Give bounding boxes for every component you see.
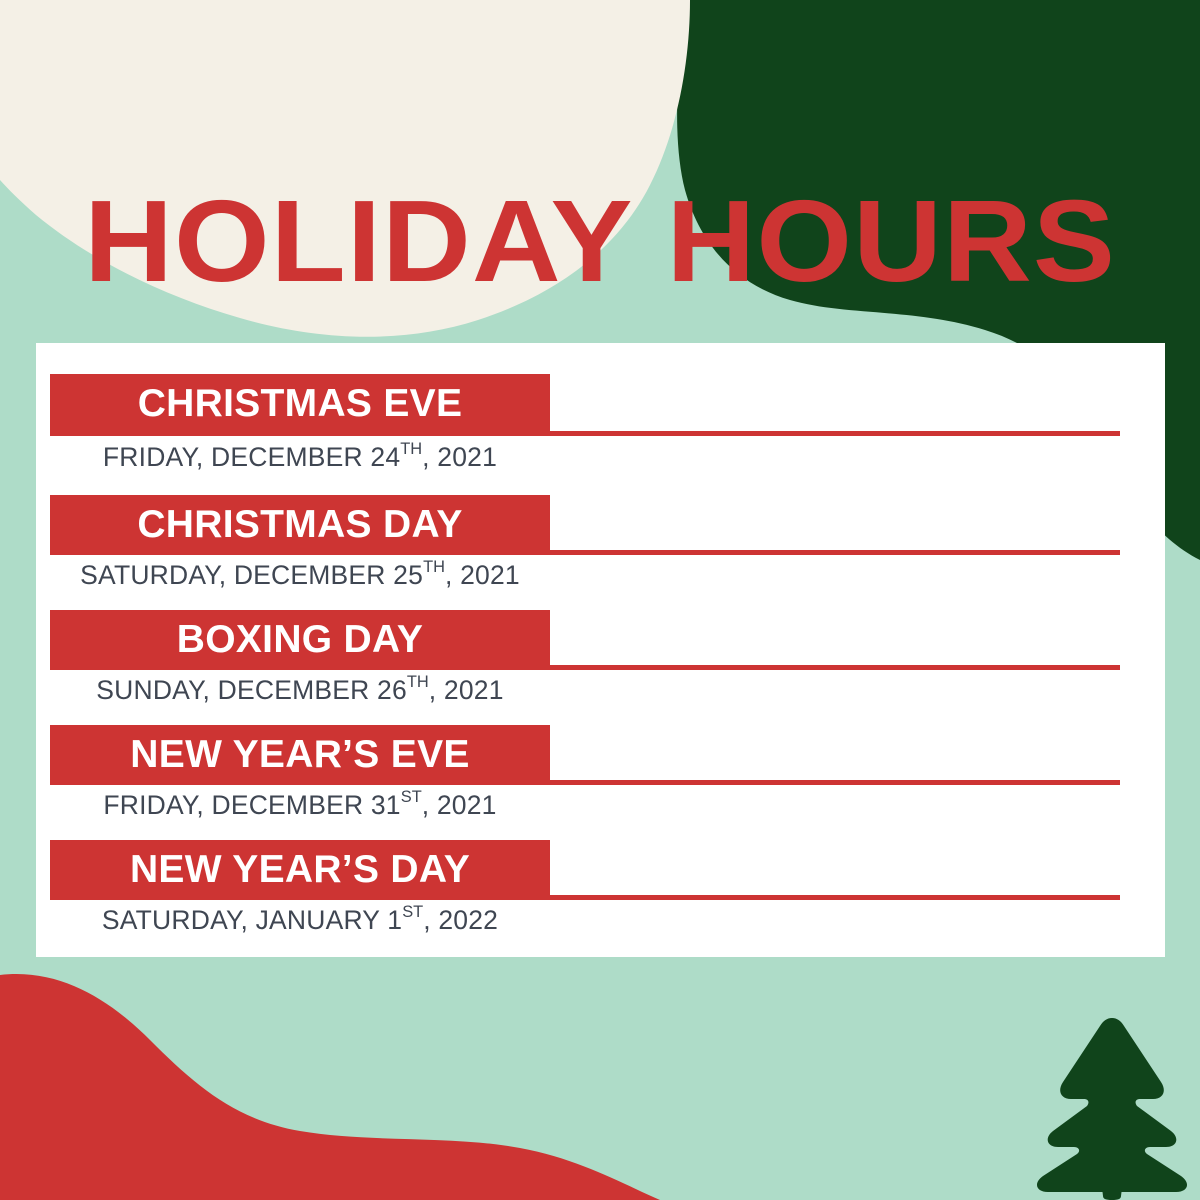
schedule-row: NEW YEAR’S EVE FRIDAY, DECEMBER 31ST, 20…: [36, 688, 1165, 803]
page-title: HOLIDAY HOURS: [0, 183, 1200, 299]
holiday-name-banner: BOXING DAY: [50, 610, 550, 670]
holiday-name: NEW YEAR’S EVE: [130, 735, 469, 774]
date-prefix: SATURDAY, JANUARY 1: [102, 905, 402, 935]
holiday-name-banner: NEW YEAR’S DAY: [50, 840, 550, 900]
holiday-name: CHRISTMAS DAY: [137, 505, 462, 544]
date-ordinal: TH: [400, 440, 422, 458]
schedule-rows: CHRISTMAS EVE FRIDAY, DECEMBER 24TH, 202…: [36, 343, 1165, 918]
date-suffix: , 2022: [423, 905, 498, 935]
schedule-row: NEW YEAR’S DAY SATURDAY, JANUARY 1ST, 20…: [36, 803, 1165, 918]
schedule-row: CHRISTMAS DAY SATURDAY, DECEMBER 25TH, 2…: [36, 458, 1165, 573]
schedule-row: BOXING DAY SUNDAY, DECEMBER 26TH, 2021: [36, 573, 1165, 688]
holiday-name: CHRISTMAS EVE: [138, 384, 463, 423]
holiday-name-banner: CHRISTMAS DAY: [50, 495, 550, 555]
holiday-hours-poster: HOLIDAY HOURS CHRISTMAS EVE FRIDAY, DECE…: [0, 0, 1200, 1200]
date-ordinal: ST: [402, 903, 423, 921]
holiday-name-banner: CHRISTMAS EVE: [50, 374, 550, 434]
holiday-name-banner: NEW YEAR’S EVE: [50, 725, 550, 785]
holiday-date: SATURDAY, JANUARY 1ST, 2022: [50, 904, 550, 933]
holiday-name: BOXING DAY: [177, 620, 423, 659]
schedule-row: CHRISTMAS EVE FRIDAY, DECEMBER 24TH, 202…: [36, 343, 1165, 458]
schedule-card: CHRISTMAS EVE FRIDAY, DECEMBER 24TH, 202…: [36, 343, 1165, 957]
holiday-name: NEW YEAR’S DAY: [130, 850, 470, 889]
